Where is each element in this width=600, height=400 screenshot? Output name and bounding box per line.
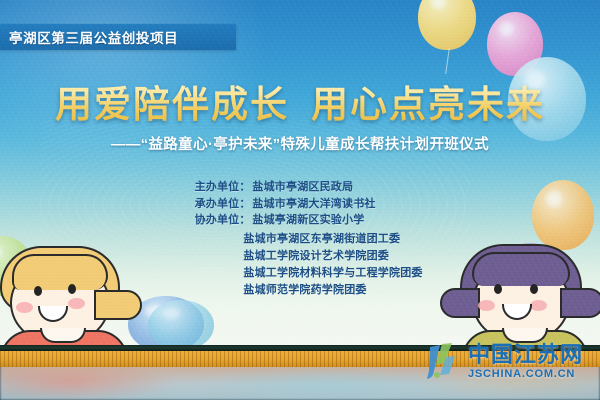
watermark-url: JSCHINA.COM.CN [468, 369, 583, 380]
photo-of-event-stage-screen: 亭湖区第三届公益创投项目 用爱陪伴成长用心点亮未来 ——“益路童心·亭护未来”特… [0, 0, 600, 400]
watermark-site-name: 中国江苏网 [468, 344, 583, 366]
js-logo-icon [424, 341, 464, 383]
led-screen: 亭湖区第三届公益创投项目 用爱陪伴成长用心点亮未来 ——“益路童心·亭护未来”特… [0, 0, 600, 345]
watermark: 中国江苏网 JSCHINA.COM.CN [424, 336, 600, 388]
watermark-text: 中国江苏网 JSCHINA.COM.CN [468, 344, 583, 380]
led-panel-moire-texture [0, 0, 600, 345]
